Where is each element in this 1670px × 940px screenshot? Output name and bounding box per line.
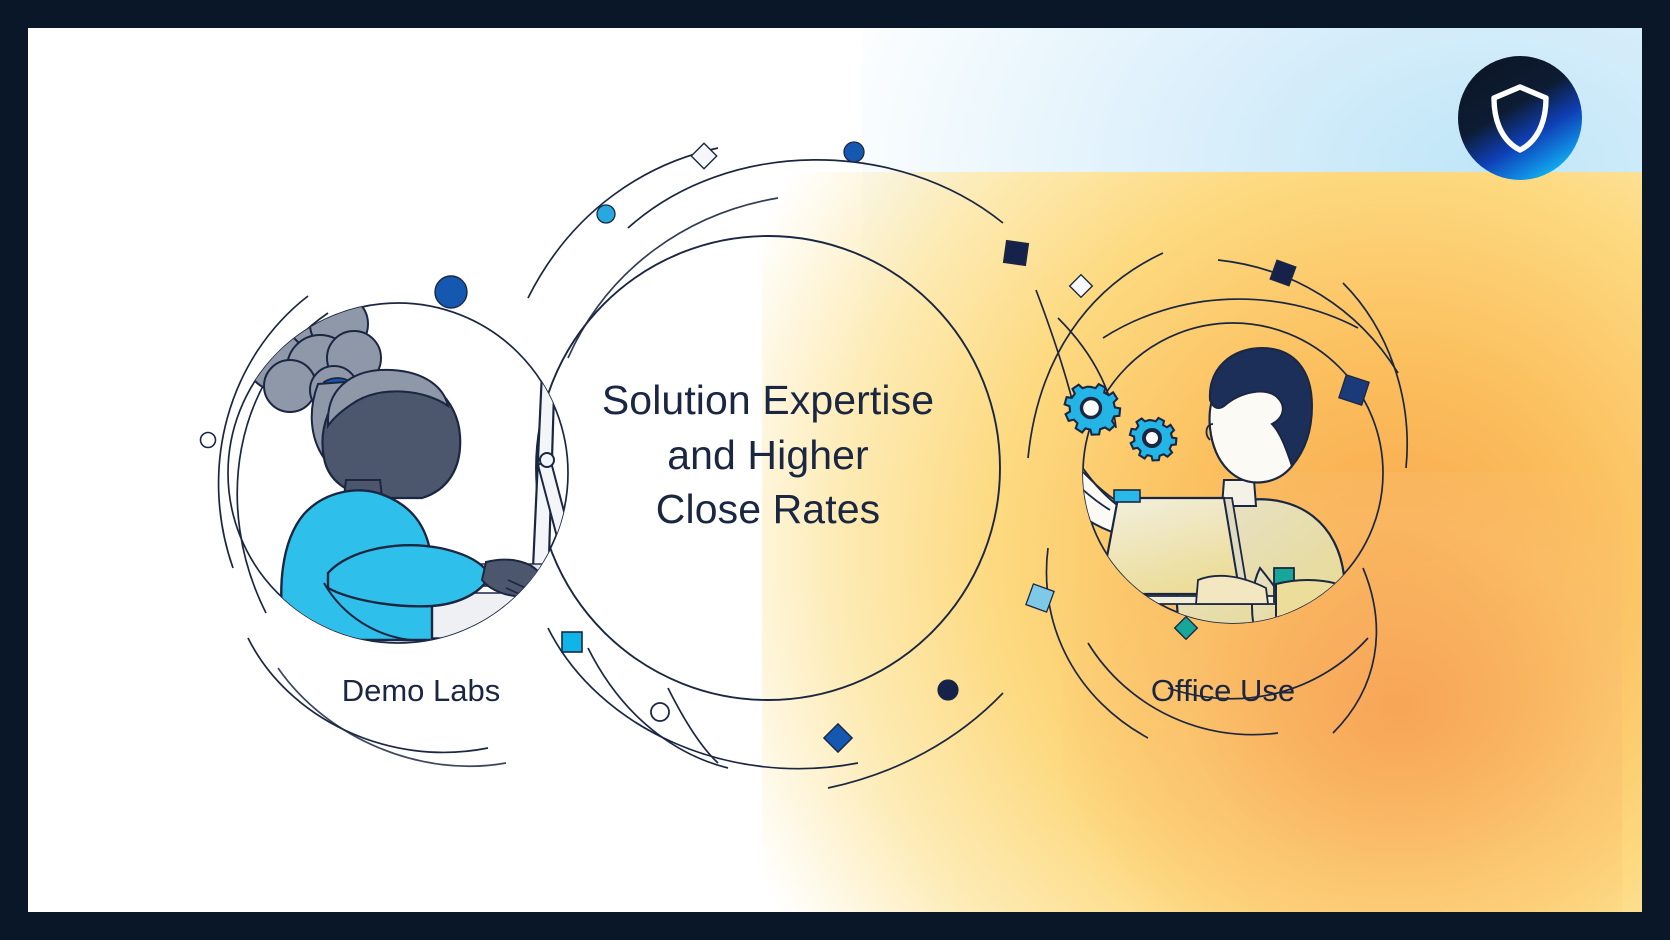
marker-teal-diamond-bottom-right <box>1175 617 1198 640</box>
gear-large-icon <box>1065 384 1120 435</box>
marker-blue-diamond-bottom <box>824 724 852 752</box>
gears-group <box>1065 384 1177 460</box>
marker-cyan-circle-left <box>597 205 615 223</box>
laptop-indicator <box>1114 490 1140 502</box>
marker-navy-square-right <box>1004 241 1029 266</box>
shield-badge-logo[interactable] <box>1456 54 1584 182</box>
marker-white-circle-bottom <box>651 703 669 721</box>
lap <box>1276 580 1364 628</box>
illustration-demo-labs <box>247 295 584 640</box>
illustration-office-use <box>1046 348 1388 628</box>
marker-white-diamond-top <box>691 143 716 168</box>
marker-white-diamond-right <box>1070 275 1093 298</box>
caption-demo-labs: Demo Labs <box>296 673 546 709</box>
outer-frame: Solution Expertise and Higher Close Rate… <box>0 0 1670 940</box>
graphic-canvas: Solution Expertise and Higher Close Rate… <box>28 28 1642 912</box>
logo-circle <box>1458 56 1582 180</box>
marker-blue-circle-top-left <box>435 276 467 308</box>
marker-navy-circle-top <box>844 142 864 162</box>
concept-illustration <box>28 28 1642 912</box>
caption-office-use: Office Use <box>1098 673 1348 709</box>
marker-navy-circle-bottom-right <box>938 680 958 700</box>
marker-white-circle-left <box>201 433 216 448</box>
marker-cyan-square-bottom-left <box>562 632 582 652</box>
marker-navy-square-right-2 <box>1270 260 1296 286</box>
gear-small-icon <box>1130 418 1177 460</box>
